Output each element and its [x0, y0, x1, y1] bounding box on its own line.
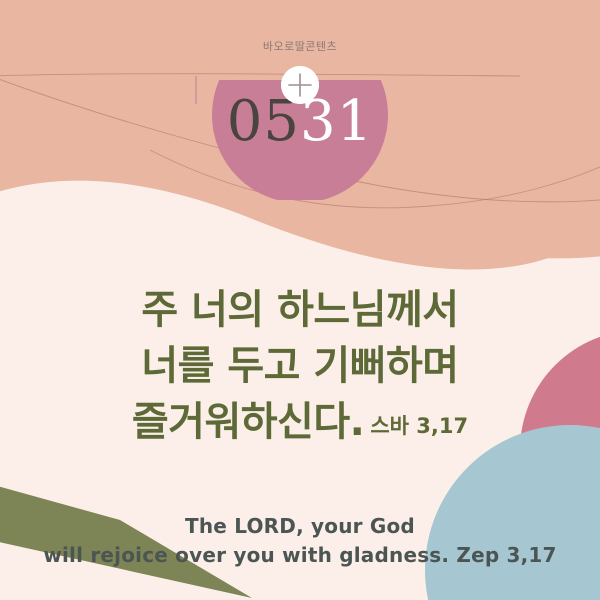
verse-korean-reference: 스바 3,17	[370, 414, 468, 438]
verse-korean-line-3: 즐거워하신다.스바 3,17	[0, 394, 600, 454]
cross-badge	[281, 66, 319, 104]
verse-korean-line-3-text: 즐거워하신다.	[132, 399, 365, 445]
verse-english-line-1: The LORD, your God	[0, 512, 600, 541]
verse-card: 바오로딸콘텐츠 0531 주 너의 하느님께서 너를 두고 기뻐하며 즐거워하신…	[0, 0, 600, 600]
cross-icon	[281, 66, 319, 104]
verse-english: The LORD, your God will rejoice over you…	[0, 512, 600, 570]
verse-korean-line-1: 주 너의 하느님께서	[0, 282, 600, 338]
verse-korean-line-2: 너를 두고 기뻐하며	[0, 338, 600, 394]
verse-english-line-2: will rejoice over you with gladness. Zep…	[0, 541, 600, 570]
brand-label: 바오로딸콘텐츠	[0, 38, 600, 54]
verse-korean: 주 너의 하느님께서 너를 두고 기뻐하며 즐거워하신다.스바 3,17	[0, 282, 600, 454]
